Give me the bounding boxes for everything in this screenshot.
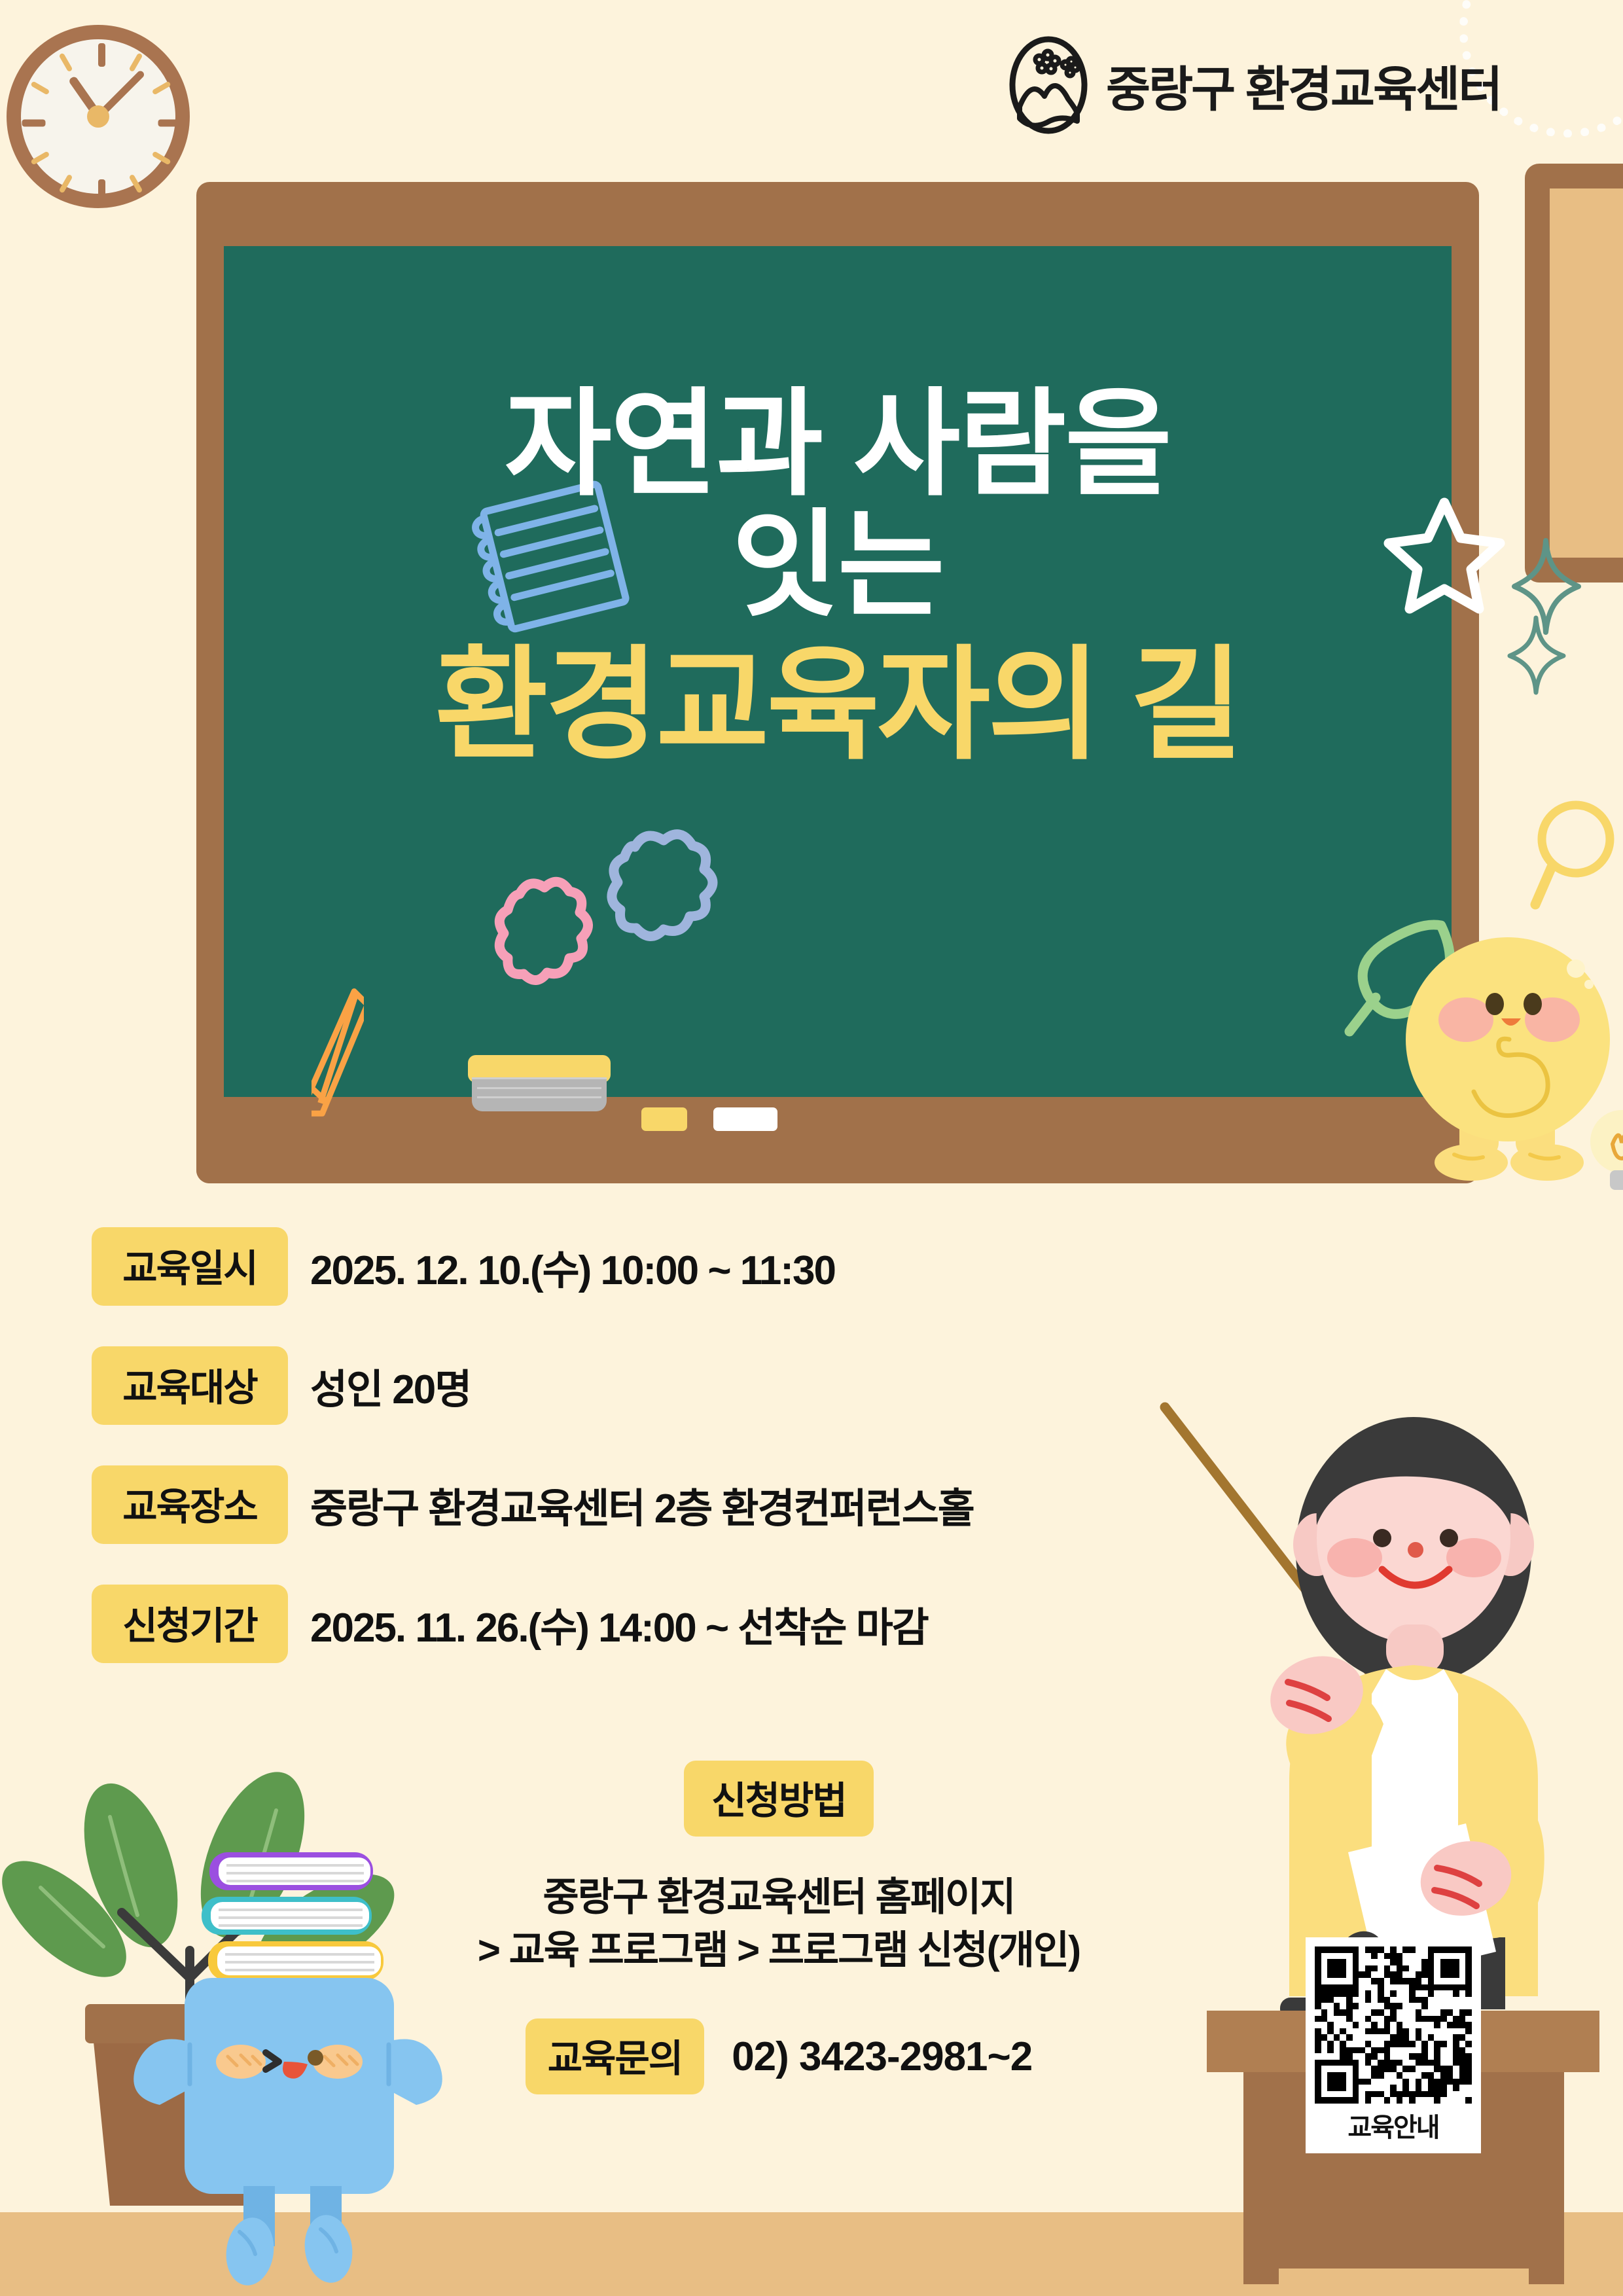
chalk-yellow-icon bbox=[641, 1107, 687, 1131]
cloud-flower-blue-icon bbox=[597, 822, 734, 960]
info-label-education-date: 교육일시 bbox=[92, 1227, 288, 1306]
pencil-doodle-icon bbox=[312, 980, 364, 1131]
info-label-education-place: 교육장소 bbox=[92, 1465, 288, 1544]
info-row: 교육대상 성인 20명 bbox=[92, 1346, 1204, 1425]
info-value-education-place: 중랑구 환경교육센터 2층 환경컨퍼런스홀 bbox=[310, 1475, 974, 1534]
cloud-flower-pink-icon bbox=[486, 868, 607, 1009]
title-line-1: 자연과 사람을 bbox=[224, 384, 1452, 505]
info-row: 교육장소 중랑구 환경교육센터 2층 환경컨퍼런스홀 bbox=[92, 1465, 1204, 1544]
brand-name: 중랑구 환경교육센터 bbox=[1106, 50, 1501, 120]
qr-code-image bbox=[1315, 1946, 1472, 2104]
info-label-education-target: 교육대상 bbox=[92, 1346, 288, 1425]
sparkle-doodle-small-icon bbox=[1503, 613, 1569, 698]
title-line-3: 환경교육자의 길 bbox=[224, 641, 1452, 770]
info-value-education-date: 2025. 12. 10.(수) 10:00 ~ 11:30 bbox=[310, 1237, 835, 1296]
title-line-2: 잇는 bbox=[224, 505, 1452, 626]
poster-root: 중랑구 환경교육센터 bbox=[0, 0, 1623, 2296]
apply-heading: 신청방법 bbox=[684, 1761, 873, 1837]
wall-clock-icon bbox=[7, 25, 190, 208]
bulletin-board bbox=[1525, 164, 1623, 583]
poster-title: 자연과 사람을 잇는 환경교육자의 길 bbox=[224, 384, 1452, 770]
info-list: 교육일시 2025. 12. 10.(수) 10:00 ~ 11:30 교육대상… bbox=[92, 1227, 1204, 1704]
chalkboard-surface: 자연과 사람을 잇는 환경교육자의 길 bbox=[224, 246, 1452, 1097]
mountain-flower-emblem-icon bbox=[1008, 36, 1089, 134]
info-label-apply-period: 신청기간 bbox=[92, 1585, 288, 1663]
contact-number[interactable]: 02) 3423-2981~2 bbox=[732, 2034, 1032, 2080]
qr-code-card[interactable]: 교육안내 bbox=[1306, 1937, 1481, 2153]
qr-code-label: 교육안내 bbox=[1315, 2106, 1472, 2144]
info-value-apply-period: 2025. 11. 26.(수) 14:00 ~ 선착순 마감 bbox=[310, 1594, 928, 1653]
info-row: 교육일시 2025. 12. 10.(수) 10:00 ~ 11:30 bbox=[92, 1227, 1204, 1306]
chalk-tray bbox=[196, 1097, 1479, 1183]
potted-plant-illustration bbox=[0, 1734, 491, 2296]
chalkboard: 자연과 사람을 잇는 환경교육자의 길 bbox=[196, 182, 1479, 1183]
chalk-eraser-icon bbox=[468, 1059, 611, 1111]
chalk-white-icon bbox=[713, 1107, 777, 1131]
contact-label: 교육문의 bbox=[526, 2018, 704, 2094]
info-row: 신청기간 2025. 11. 26.(수) 14:00 ~ 선착순 마감 bbox=[92, 1585, 1204, 1663]
yellow-round-mascot bbox=[1361, 877, 1623, 1185]
info-value-education-target: 성인 20명 bbox=[310, 1356, 471, 1415]
brand-header: 중랑구 환경교육센터 bbox=[1008, 36, 1501, 134]
